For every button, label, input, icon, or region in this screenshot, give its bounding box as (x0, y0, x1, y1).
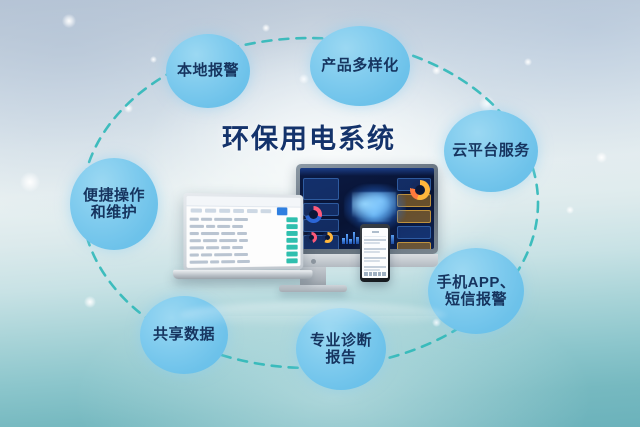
list-item (364, 248, 386, 255)
phone-app-header (364, 231, 386, 237)
list-item (364, 239, 386, 246)
table-row (190, 244, 298, 251)
monitor-power-indicator (311, 259, 316, 264)
bubble-label-line2: 短信报警 (445, 291, 507, 308)
bubble-label-line1: 专业诊断 (310, 332, 372, 349)
laptop-screen (187, 196, 301, 268)
table-row (190, 237, 298, 243)
dashboard-left-panel (303, 178, 339, 233)
bubble-label: 云平台服务 (452, 142, 530, 159)
laptop-computer[interactable] (183, 193, 303, 271)
bubble-local-alarm[interactable]: 本地报警 (166, 34, 250, 108)
bubble-label-line1: 便捷操作 (83, 187, 145, 204)
bubble-label: 本地报警 (177, 62, 239, 79)
table-row (190, 258, 298, 265)
table-row (190, 231, 298, 237)
device-reflection (180, 302, 446, 328)
gauge-chart (410, 180, 430, 200)
gauge-chart (305, 206, 322, 223)
poster-canvas: 本地报警 产品多样化 云平台服务 手机APP、 短信报警 专业诊断 报告 共享数… (0, 0, 640, 427)
table-row (190, 224, 298, 230)
bubble-label-line2: 报告 (325, 349, 356, 366)
phone-screen (362, 228, 388, 278)
bubble-label-line2: 和维护 (91, 204, 138, 221)
monitor-stand-base (279, 285, 347, 292)
list-item (364, 257, 386, 264)
page-title: 环保用电系统 (222, 117, 396, 156)
phone-tab-bar (364, 272, 386, 276)
laptop-keyboard-base (173, 270, 313, 279)
bubble-product-diversity[interactable]: 产品多样化 (310, 26, 410, 106)
device-group (178, 160, 448, 310)
gauge-chart (322, 232, 333, 243)
bubble-label-line1: 手机APP、 (437, 274, 516, 291)
laptop-data-table (190, 217, 298, 265)
gauge-chart (306, 232, 317, 243)
smartphone[interactable] (360, 224, 390, 282)
laptop-action-button (277, 207, 287, 215)
bubble-label: 共享数据 (153, 326, 215, 343)
bubble-cloud-platform[interactable]: 云平台服务 (444, 110, 538, 192)
dashboard-header-bar (300, 168, 434, 176)
bubble-easy-operation[interactable]: 便捷操作 和维护 (70, 158, 158, 250)
bubble-label: 产品多样化 (321, 57, 399, 74)
table-row (190, 217, 298, 223)
